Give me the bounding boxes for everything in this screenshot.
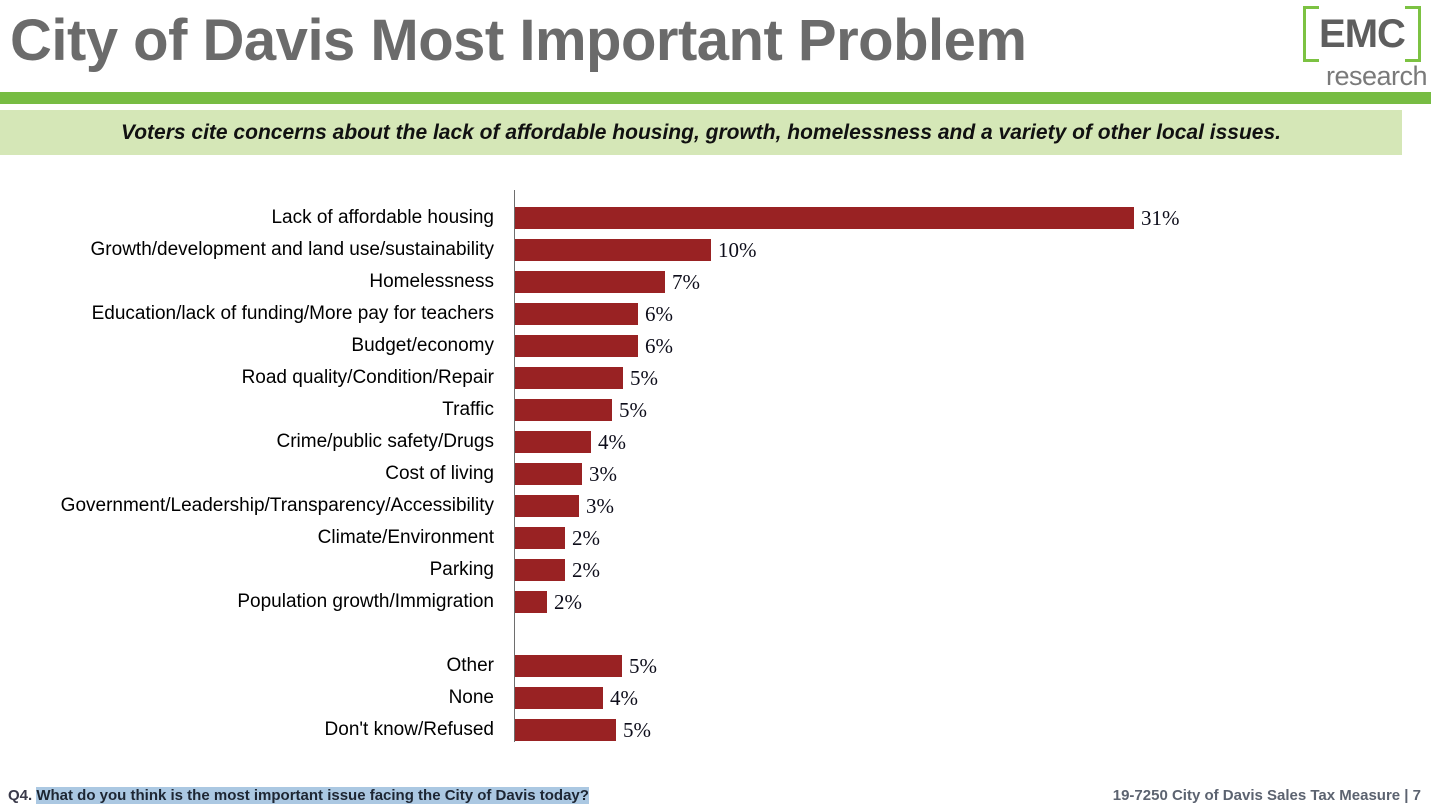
subtitle-text: Voters cite concerns about the lack of a… [121,121,1281,145]
chart-bar-value: 4% [610,682,638,714]
chart-bar-value: 5% [623,714,651,746]
chart-row: None4% [0,682,1431,714]
header-accent-rule [0,92,1431,104]
chart-bar-value: 5% [619,394,647,426]
chart-bar [515,367,623,389]
footer-meta: 19-7250 City of Davis Sales Tax Measure … [1113,787,1421,804]
chart-row-label: Road quality/Condition/Repair [242,362,494,394]
chart-row: Budget/economy6% [0,330,1431,362]
chart-row: Homelessness7% [0,266,1431,298]
chart-bar [515,207,1134,229]
chart-row-label: Lack of affordable housing [271,202,494,234]
chart-row: Cost of living3% [0,458,1431,490]
footer-question-text[interactable]: What do you think is the most important … [36,787,589,804]
chart-bar-value: 10% [718,234,757,266]
chart-row: Lack of affordable housing31% [0,202,1431,234]
chart-row: Climate/Environment2% [0,522,1431,554]
bar-chart: Lack of affordable housing31%Growth/deve… [0,190,1431,750]
logo-emc-text: EMC [1303,6,1421,62]
chart-row-label: None [449,682,494,714]
chart-bar [515,495,579,517]
chart-bar-value: 4% [598,426,626,458]
chart-row-label: Budget/economy [351,330,494,362]
chart-row: Crime/public safety/Drugs4% [0,426,1431,458]
chart-bar [515,591,547,613]
chart-row-label: Crime/public safety/Drugs [276,426,494,458]
chart-bar-value: 3% [589,458,617,490]
chart-bar [515,399,612,421]
chart-bar [515,655,622,677]
chart-bar-value: 3% [586,490,614,522]
chart-row-label: Traffic [442,394,494,426]
chart-row-label: Homelessness [369,266,494,298]
chart-row: Growth/development and land use/sustaina… [0,234,1431,266]
chart-row: Traffic5% [0,394,1431,426]
chart-row: Population growth/Immigration2% [0,586,1431,618]
chart-row-label: Education/lack of funding/More pay for t… [92,298,494,330]
chart-bar-value: 2% [572,554,600,586]
chart-row-label: Parking [430,554,494,586]
chart-bar-value: 2% [572,522,600,554]
chart-row: Other5% [0,650,1431,682]
chart-bar [515,335,638,357]
chart-bar-value: 5% [629,650,657,682]
emc-logo-mark: EMC [1303,6,1421,62]
chart-bar-value: 31% [1141,202,1180,234]
chart-bar [515,239,711,261]
chart-bar-value: 6% [645,298,673,330]
chart-bar-value: 5% [630,362,658,394]
page-title: City of Davis Most Important Problem [10,8,1026,75]
chart-row: Parking2% [0,554,1431,586]
chart-row-label: Other [446,650,494,682]
chart-bar [515,559,565,581]
chart-bar [515,687,603,709]
chart-bar [515,303,638,325]
chart-bar-value: 6% [645,330,673,362]
chart-bar-value: 7% [672,266,700,298]
chart-bar [515,719,616,741]
chart-bar [515,463,582,485]
chart-row-label: Growth/development and land use/sustaina… [91,234,494,266]
emc-research-logo: EMC research [1303,6,1427,90]
chart-row: Road quality/Condition/Repair5% [0,362,1431,394]
chart-row: Government/Leadership/Transparency/Acces… [0,490,1431,522]
subtitle-band: Voters cite concerns about the lack of a… [0,110,1402,155]
chart-row-label: Cost of living [385,458,494,490]
chart-row-label: Government/Leadership/Transparency/Acces… [61,490,494,522]
chart-row: Don't know/Refused5% [0,714,1431,746]
chart-bar-value: 2% [554,586,582,618]
logo-research-text: research [1303,63,1427,90]
chart-row-label: Climate/Environment [318,522,494,554]
chart-bar [515,527,565,549]
chart-row: Education/lack of funding/More pay for t… [0,298,1431,330]
chart-bar [515,431,591,453]
footer-question-number: Q4. [8,787,32,804]
chart-bar [515,271,665,293]
footer-question: Q4. What do you think is the most import… [8,787,589,804]
chart-row-label: Population growth/Immigration [237,586,494,618]
chart-row-label: Don't know/Refused [325,714,494,746]
